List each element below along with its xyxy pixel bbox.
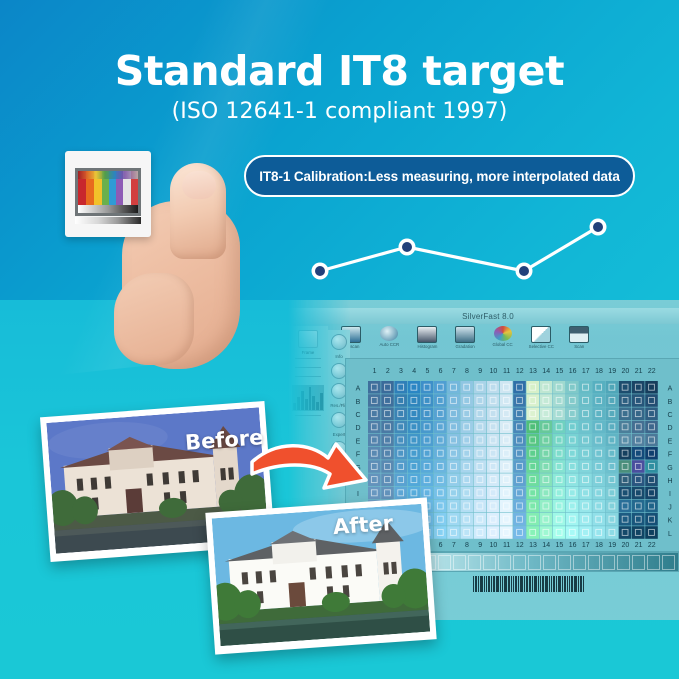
thumb	[114, 273, 194, 365]
window-titlebar: SilverFast 8.0	[288, 308, 679, 324]
svg-text:17: 17	[582, 542, 590, 549]
toolbar-button-gradation[interactable]: Gradation	[450, 326, 480, 349]
svg-text:4: 4	[412, 368, 416, 375]
callout-text: IT8-1 Calibration:Less measuring, more i…	[259, 169, 619, 184]
frame-tool-icon[interactable]	[298, 330, 318, 348]
svg-text:5: 5	[425, 368, 429, 375]
toolbar-label: Gradation	[455, 344, 474, 349]
svg-text:19: 19	[608, 542, 616, 549]
fingernail	[182, 171, 216, 199]
selective-cc-icon	[531, 326, 551, 343]
svg-text:18: 18	[595, 368, 603, 375]
photo-after-image	[212, 504, 430, 646]
svg-text:F: F	[668, 452, 672, 459]
toolbar-button-selective-cc[interactable]: Selective CC	[526, 326, 556, 349]
svg-text:21: 21	[635, 368, 643, 375]
svg-text:15: 15	[556, 368, 564, 375]
it8-target-mini	[78, 171, 138, 213]
svg-text:13: 13	[529, 542, 537, 549]
svg-text:22: 22	[648, 368, 656, 375]
svg-text:A: A	[356, 386, 361, 393]
svg-text:20: 20	[622, 368, 630, 375]
svg-text:D: D	[667, 425, 672, 432]
svg-text:J: J	[668, 504, 672, 511]
window-title: SilverFast 8.0	[462, 312, 514, 321]
svg-text:6: 6	[439, 368, 443, 375]
photo-after-label: After	[332, 511, 394, 539]
histogram-icon	[417, 326, 437, 343]
scan-icon	[569, 326, 589, 343]
svg-text:15: 15	[556, 542, 564, 549]
svg-text:16: 16	[569, 368, 577, 375]
slide-grey-scale	[75, 217, 141, 224]
toolbar-button-global-cc[interactable]: Global CC	[488, 326, 518, 347]
svg-text:10: 10	[490, 542, 498, 549]
svg-text:21: 21	[635, 542, 643, 549]
toolbar-label: Selective CC	[528, 344, 553, 349]
svg-text:I: I	[669, 491, 671, 498]
histogram-preview	[292, 385, 324, 411]
page-title: Standard IT8 target	[0, 47, 679, 95]
trend-line-chart	[300, 205, 620, 285]
svg-text:19: 19	[608, 368, 616, 375]
toolbar-label: Scan	[574, 344, 584, 349]
sidebar-slider[interactable]	[295, 376, 321, 381]
sidebar-slider[interactable]	[295, 367, 321, 372]
toolbar-button-scan[interactable]: Scan	[564, 326, 594, 349]
gradation-icon	[455, 326, 475, 343]
svg-text:2: 2	[386, 368, 390, 375]
svg-text:12: 12	[516, 368, 524, 375]
svg-text:17: 17	[582, 368, 590, 375]
svg-text:B: B	[356, 399, 361, 406]
hand-holding-slide	[55, 145, 270, 375]
auto-ccr-icon	[380, 326, 398, 341]
toolbar-label: Histogram	[417, 344, 437, 349]
infographic-stage: Standard IT8 target (ISO 12641-1 complia…	[0, 0, 679, 679]
svg-text:12: 12	[516, 542, 524, 549]
svg-text:E: E	[668, 438, 673, 445]
svg-text:1: 1	[373, 368, 377, 375]
svg-text:6: 6	[439, 542, 443, 549]
svg-text:7: 7	[452, 542, 456, 549]
page-subtitle: (ISO 12641-1 compliant 1997)	[0, 99, 679, 124]
global-cc-icon	[494, 326, 512, 341]
toolbar-label: Auto CCR	[379, 342, 399, 347]
sidebar-label: Frame	[290, 350, 326, 355]
svg-text:11: 11	[503, 542, 510, 549]
toolbar-button-auto-ccr[interactable]: Auto CCR	[374, 326, 404, 347]
slide-mount	[65, 151, 151, 237]
toolbar-button-histogram[interactable]: Histogram	[412, 326, 442, 349]
svg-text:16: 16	[569, 542, 577, 549]
callout-pill: IT8-1 Calibration:Less measuring, more i…	[244, 155, 635, 197]
transform-arrow	[250, 428, 370, 508]
svg-text:C: C	[355, 412, 360, 419]
svg-text:B: B	[668, 399, 673, 406]
svg-text:18: 18	[595, 542, 603, 549]
chart-polyline	[320, 227, 598, 271]
toolbar-label: Global CC	[493, 342, 513, 347]
svg-text:22: 22	[648, 542, 656, 549]
svg-text:14: 14	[542, 368, 550, 375]
slide-window	[75, 168, 141, 216]
svg-text:7: 7	[452, 368, 456, 375]
svg-text:13: 13	[529, 368, 537, 375]
svg-text:A: A	[668, 386, 673, 393]
svg-text:9: 9	[478, 368, 482, 375]
svg-text:L: L	[668, 531, 672, 538]
sidebar-slider[interactable]	[295, 415, 321, 420]
app-toolbar[interactable]: Prescan Auto CCR Histogram Gradation Glo…	[328, 326, 679, 356]
svg-text:9: 9	[478, 542, 482, 549]
svg-text:10: 10	[490, 368, 498, 375]
sidebar-slider[interactable]	[295, 358, 321, 363]
barcode	[473, 576, 593, 592]
svg-text:8: 8	[465, 368, 469, 375]
svg-text:3: 3	[399, 368, 403, 375]
pipette-icon[interactable]	[331, 334, 347, 350]
svg-text:14: 14	[542, 542, 550, 549]
svg-text:20: 20	[622, 542, 630, 549]
svg-text:H: H	[667, 478, 672, 485]
svg-text:K: K	[668, 518, 673, 525]
svg-text:C: C	[667, 412, 672, 419]
svg-text:11: 11	[503, 368, 510, 375]
svg-text:8: 8	[465, 542, 469, 549]
svg-text:G: G	[667, 465, 672, 472]
photo-after[interactable]	[205, 497, 436, 654]
